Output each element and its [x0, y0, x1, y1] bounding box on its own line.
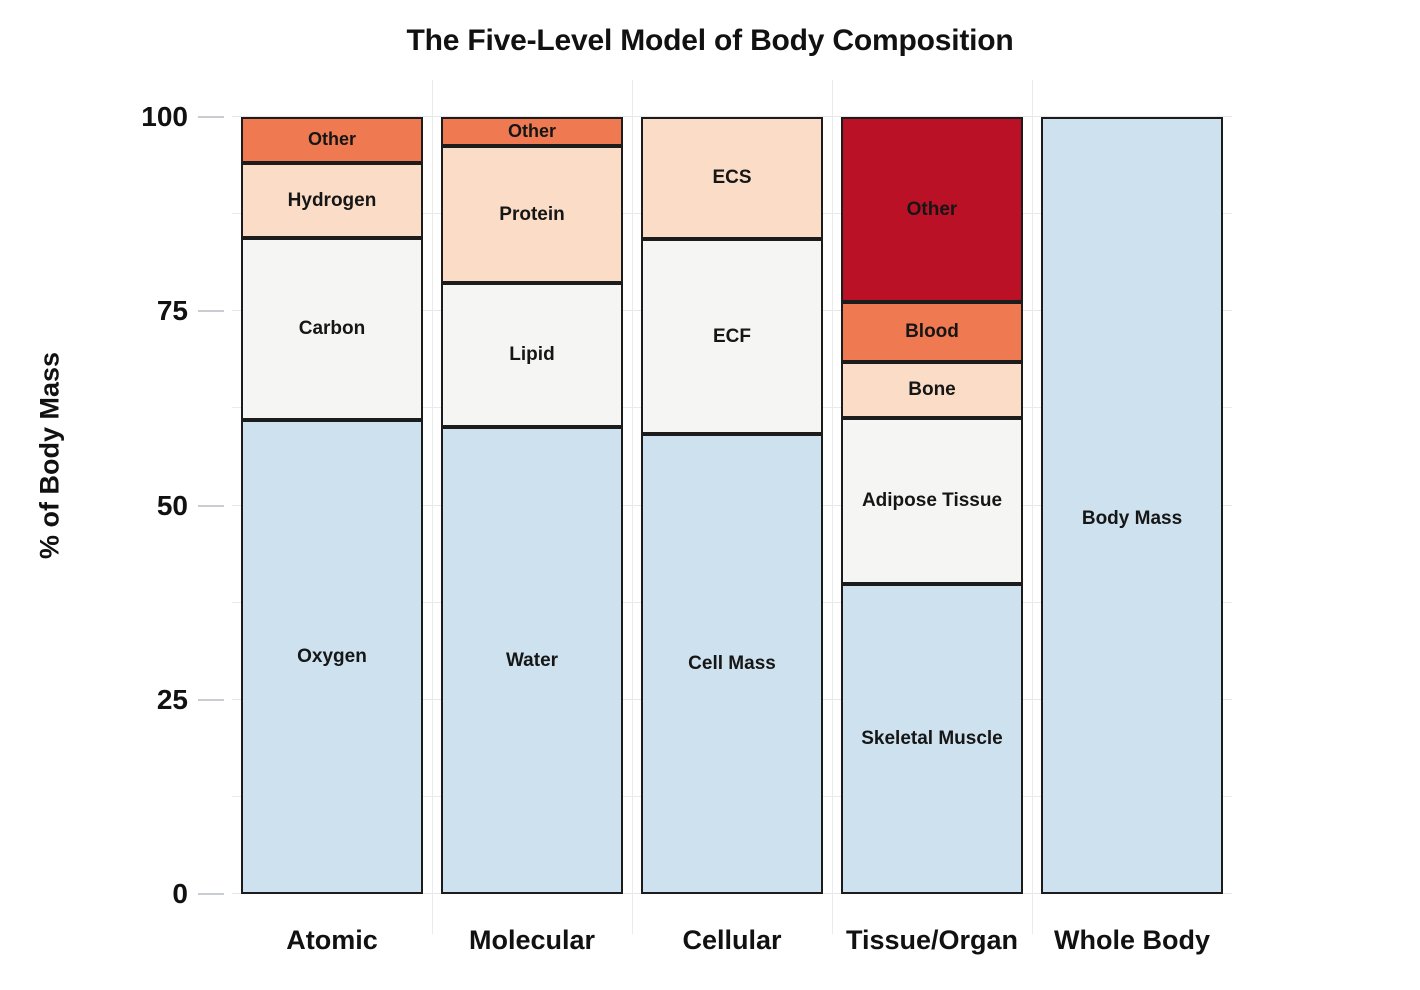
- bar-segment-label: Other: [308, 130, 356, 149]
- stacked-bar-tissue-organ[interactable]: Skeletal MuscleAdipose TissueBoneBloodOt…: [841, 117, 1023, 894]
- bar-segment-label: Other: [508, 122, 556, 141]
- bar-segment-label: Hydrogen: [288, 191, 377, 211]
- bar-segment-label: Bone: [908, 380, 956, 400]
- y-tick-mark: [198, 116, 224, 118]
- y-tick-mark: [198, 893, 224, 895]
- plot-area: OxygenCarbonHydrogenOtherWaterLipidProte…: [232, 117, 1232, 894]
- stacked-bar-molecular[interactable]: WaterLipidProteinOther: [441, 117, 623, 894]
- bar-segment[interactable]: Cell Mass: [641, 434, 823, 894]
- bar-segment-label: Protein: [499, 205, 564, 225]
- bar-segment[interactable]: Skeletal Muscle: [841, 584, 1023, 894]
- vertical-gridline: [632, 80, 633, 934]
- vertical-gridline: [1032, 80, 1033, 934]
- stacked-bar-cellular[interactable]: Cell MassECFECS: [641, 117, 823, 894]
- y-tick-mark: [198, 505, 224, 507]
- bar-segment-label: Cell Mass: [688, 654, 776, 674]
- vertical-gridline: [832, 80, 833, 934]
- y-tick-label: 100: [68, 101, 188, 133]
- bar-segment[interactable]: Adipose Tissue: [841, 418, 1023, 584]
- vertical-gridline: [432, 80, 433, 934]
- bar-segment[interactable]: Water: [441, 427, 623, 894]
- chart-figure: The Five-Level Model of Body Composition…: [0, 0, 1420, 990]
- bar-segment[interactable]: Oxygen: [241, 420, 423, 894]
- stacked-bar-atomic[interactable]: OxygenCarbonHydrogenOther: [241, 117, 423, 894]
- y-tick-label: 50: [68, 490, 188, 522]
- chart-title: The Five-Level Model of Body Composition: [0, 24, 1420, 58]
- y-tick-label: 75: [68, 295, 188, 327]
- y-tick-label: 0: [68, 878, 188, 910]
- bar-segment[interactable]: Hydrogen: [241, 163, 423, 238]
- bar-segment-label: Lipid: [509, 345, 554, 365]
- bar-segment-label: Oxygen: [297, 647, 367, 667]
- x-tick-label-whole-body: Whole Body: [982, 925, 1282, 956]
- y-axis-label: % of Body Mass: [35, 176, 66, 736]
- bar-segment-label: ECS: [712, 168, 751, 188]
- bar-segment[interactable]: Lipid: [441, 283, 623, 427]
- bar-segment[interactable]: Other: [241, 117, 423, 163]
- bar-segment[interactable]: ECS: [641, 117, 823, 239]
- bar-segment-label: Carbon: [299, 319, 366, 339]
- bar-segment[interactable]: Protein: [441, 146, 623, 284]
- bar-segment-label: Body Mass: [1082, 509, 1182, 529]
- y-tick-mark: [198, 699, 224, 701]
- bar-segment[interactable]: ECF: [641, 239, 823, 434]
- bar-segment-label: Water: [506, 651, 558, 671]
- y-tick-mark: [198, 310, 224, 312]
- bar-segment[interactable]: Blood: [841, 302, 1023, 362]
- bar-segment[interactable]: Other: [841, 117, 1023, 302]
- bar-segment[interactable]: Carbon: [241, 238, 423, 420]
- bar-segment[interactable]: Other: [441, 117, 623, 146]
- stacked-bar-whole-body[interactable]: Body Mass: [1041, 117, 1223, 894]
- bar-segment[interactable]: Body Mass: [1041, 117, 1223, 894]
- bar-segment-label: Skeletal Muscle: [861, 729, 1003, 749]
- bar-segment[interactable]: Bone: [841, 362, 1023, 418]
- y-tick-label: 25: [68, 684, 188, 716]
- bar-segment-label: Other: [907, 200, 958, 220]
- bar-segment-label: ECF: [713, 327, 751, 347]
- bar-segment-label: Blood: [905, 322, 959, 342]
- bar-segment-label: Adipose Tissue: [862, 491, 1002, 511]
